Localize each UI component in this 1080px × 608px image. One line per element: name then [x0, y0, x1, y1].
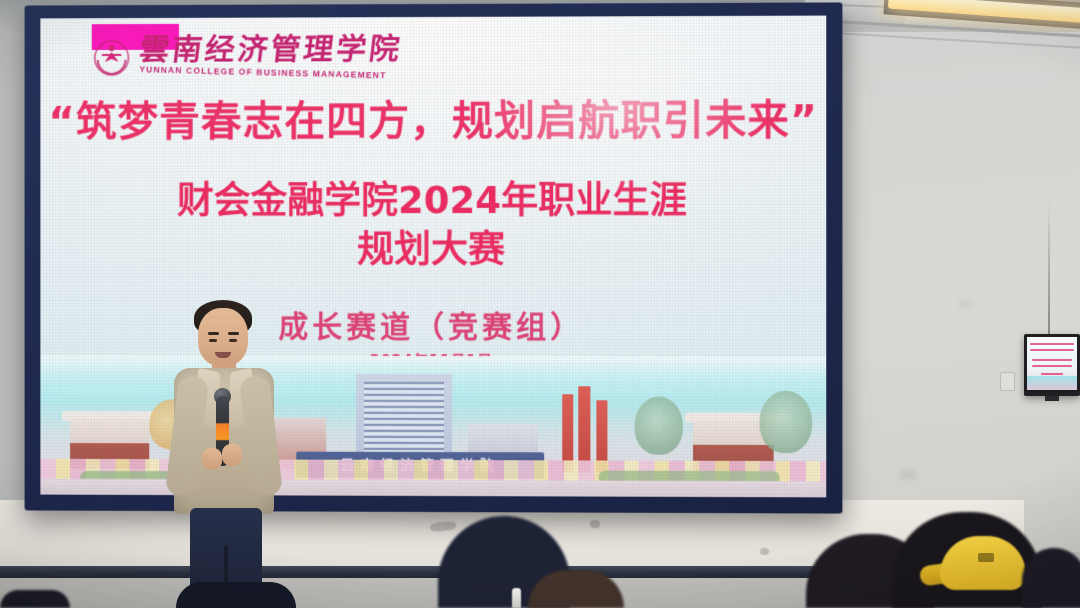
- campus-road: [40, 479, 826, 498]
- college-emblem-icon: [92, 37, 132, 77]
- wall-mark: [960, 300, 970, 308]
- slide-logo-name-en: YUNNAN COLLEGE OF BUSINESS MANAGEMENT: [139, 65, 402, 80]
- presenter: [168, 296, 280, 608]
- wall-socket: [1000, 372, 1015, 391]
- presenter-hand: [222, 444, 242, 466]
- slide-headline: “筑梦青春志在四方，规划启航职引未来”: [40, 86, 826, 148]
- whiteboard-mark: [760, 548, 769, 555]
- wall-mark: [900, 470, 916, 480]
- slide-logo-name-cn: 雲南经济管理学院: [138, 35, 404, 66]
- slide-subtitle-line1: 财会金融学院2024年职业生涯: [40, 177, 826, 226]
- audience-head: [0, 590, 70, 608]
- led-screen[interactable]: 雲南经济管理学院 YUNNAN COLLEGE OF BUSINESS MANA…: [25, 2, 843, 513]
- water-bottle: [512, 588, 521, 608]
- campus-tree: [760, 391, 813, 453]
- lecture-hall-photo: 雲南经济管理学院 YUNNAN COLLEGE OF BUSINESS MANA…: [0, 0, 1080, 608]
- presenter-hand: [202, 448, 222, 470]
- slide-logo: 雲南经济管理学院 YUNNAN COLLEGE OF BUSINESS MANA…: [92, 35, 402, 77]
- slide-subtitle-line2: 规划大赛: [40, 226, 826, 275]
- campus-photo: 云南经济管理学院: [40, 355, 826, 497]
- audience-head: [176, 582, 296, 608]
- monitor-stand: [1045, 396, 1059, 401]
- whiteboard-mark: [590, 520, 600, 528]
- wall-monitor[interactable]: [1024, 334, 1080, 396]
- wall-monitor-screen: [1027, 337, 1077, 390]
- campus-tree: [635, 396, 683, 454]
- cap-logo: [978, 553, 994, 562]
- slide-subtitle: 财会金融学院2024年职业生涯 规划大赛: [40, 177, 826, 275]
- monitor-cable: [1048, 200, 1050, 336]
- slide-surface: 雲南经济管理学院 YUNNAN COLLEGE OF BUSINESS MANA…: [40, 16, 826, 498]
- audience-head: [1022, 548, 1080, 608]
- slide-track-label: 成长赛道（竞赛组）: [40, 302, 826, 347]
